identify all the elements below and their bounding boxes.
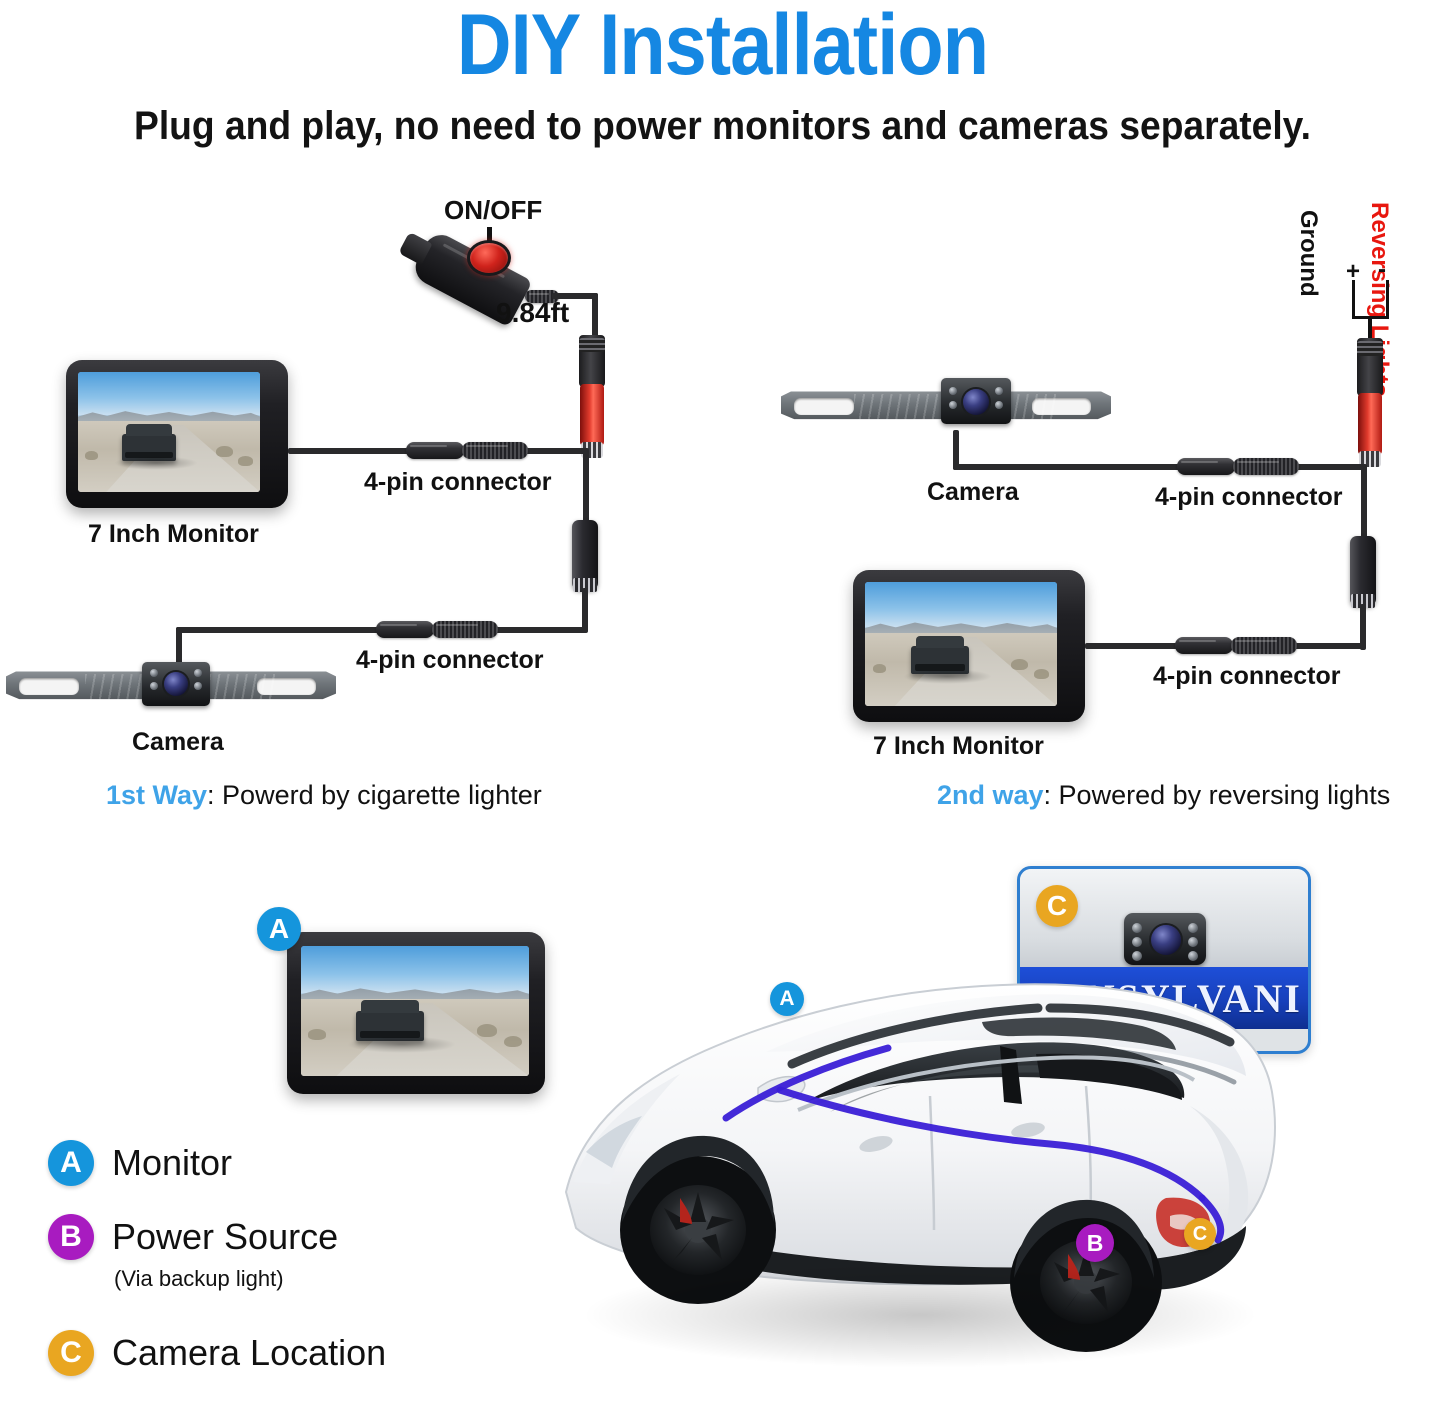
marker-badge-a-car: A: [770, 982, 804, 1016]
legend-badge-b: B: [48, 1214, 94, 1260]
legend-sub-power-source: (Via backup light): [114, 1266, 284, 1292]
camera-led-4: [194, 682, 202, 690]
camera-led-5: [949, 387, 957, 395]
legend-badge-c: C: [48, 1330, 94, 1376]
way1-diagram: ON/OFF 9.84ft 7 Inch Monitor 4-pin conne…: [0, 180, 720, 830]
connector-label-top-way2: 4-pin connector: [1155, 483, 1343, 512]
cable-length-label: 9.84ft: [496, 297, 569, 329]
connector-barrel-a1: [406, 442, 464, 459]
camera-lens-way2: [963, 389, 989, 415]
way1-caption-prefix: 1st Way: [106, 780, 207, 810]
page-title: DIY Installation: [87, 0, 1359, 95]
power-lead-red: [580, 384, 604, 446]
wire-fork-left: [1352, 280, 1355, 318]
power-lead-black-ribs: [579, 338, 605, 352]
camera-led-7: [995, 387, 1003, 395]
bracket-slot-left-way1: [19, 678, 78, 695]
legend: A Monitor B Power Source (Via backup lig…: [40, 1130, 500, 1410]
camera-led-3: [194, 669, 202, 677]
way2-diagram: Ground Reversing Lights + - Camera 4-pin…: [725, 180, 1445, 830]
camera-wire-way2: [953, 464, 1365, 470]
camera-lens-way1: [164, 672, 188, 696]
plug-wire-vertical: [592, 293, 598, 341]
monitor-screen-way1: [78, 372, 260, 492]
monitor-device-way1[interactable]: [66, 360, 288, 508]
connector-label-bottom-way1: 4-pin connector: [356, 646, 544, 675]
vehicle-shadow: [570, 1260, 1270, 1370]
connector-barrel-a2: [376, 621, 434, 638]
marker-badge-c-inset: C: [1036, 885, 1078, 927]
minus-symbol: -: [1378, 256, 1386, 284]
junction-wire-down-way2: [1361, 464, 1367, 540]
monitor-device-way2[interactable]: [853, 570, 1085, 722]
way2-caption: 2nd way: Powered by reversing lights: [937, 780, 1390, 811]
splitter-wire-down-way1: [582, 588, 588, 630]
connector-label-top-way1: 4-pin connector: [364, 468, 552, 497]
connector-barrel-a3: [1177, 458, 1235, 475]
power-lead-black-ribs-way2: [1357, 341, 1383, 356]
monitor-screen-way2: [865, 582, 1057, 706]
junction-wire-down-way1: [583, 448, 589, 524]
wire-fork-right: [1386, 280, 1389, 318]
monitor-label-way1: 7 Inch Monitor: [88, 520, 259, 549]
legend-badge-a: A: [48, 1140, 94, 1186]
connector-barrel-b2: [432, 621, 498, 638]
marker-badge-c-car: C: [1184, 1218, 1216, 1250]
connector-label-bottom-way2: 4-pin connector: [1153, 662, 1341, 691]
camera-device-way2[interactable]: [781, 370, 1111, 440]
onoff-label: ON/OFF: [444, 195, 542, 226]
camera-label-way1: Camera: [132, 728, 224, 757]
legend-label-monitor: Monitor: [112, 1142, 232, 1184]
power-switch-button[interactable]: [467, 240, 511, 276]
bracket-slot-left-way2: [794, 398, 853, 415]
way1-caption-rest: : Powerd by cigarette lighter: [207, 780, 542, 810]
monitor-inset-screen: [301, 946, 529, 1076]
camera-led-8: [995, 401, 1003, 409]
connector-barrel-b4: [1231, 637, 1297, 654]
legend-label-camera-location: Camera Location: [112, 1332, 386, 1374]
vehicle-diagram: A B C: [530, 930, 1320, 1410]
legend-label-power-source: Power Source: [112, 1216, 338, 1258]
camera-led-1: [150, 669, 158, 677]
power-lead-red-way2: [1358, 393, 1382, 455]
connector-barrel-b1: [462, 442, 528, 459]
monitor-label-way2: 7 Inch Monitor: [873, 732, 1044, 761]
marker-badge-b-car: B: [1076, 1224, 1114, 1262]
page-subtitle: Plug and play, no need to power monitors…: [51, 104, 1395, 149]
connector-barrel-b3: [1233, 458, 1299, 475]
way2-caption-rest: : Powered by reversing lights: [1044, 780, 1391, 810]
connector-barrel-a4: [1175, 637, 1233, 654]
way2-caption-prefix: 2nd way: [937, 780, 1044, 810]
camera-led-6: [949, 401, 957, 409]
ground-label: Ground: [1294, 210, 1322, 297]
camera-led-2: [150, 682, 158, 690]
way1-caption: 1st Way: Powerd by cigarette lighter: [106, 780, 542, 811]
monitor-inset-device[interactable]: [287, 932, 545, 1094]
marker-badge-a-monitor: A: [257, 907, 301, 951]
camera-device-way1[interactable]: [6, 650, 336, 720]
bracket-ribs-left-way2: [854, 394, 940, 421]
camera-label-way2: Camera: [927, 478, 1019, 507]
